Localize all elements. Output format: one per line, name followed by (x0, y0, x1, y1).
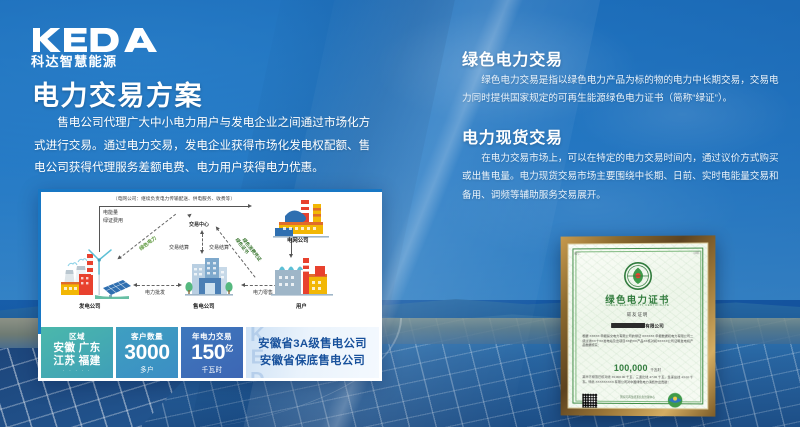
certificate-date-label: 日期： (693, 251, 701, 255)
certificate-amount-unit: 千瓦时 (650, 368, 661, 372)
section-body-green-power: 绿色电力交易是指以绿色电力产品为标的物的电力中长期交易，交易电力同时提供国家规定… (462, 72, 786, 109)
stats-bar: 区域 安徽 广东 江苏 福建 · · · · · 客户数量 3000 多户 年电… (41, 327, 379, 378)
stat-annual-trading-sup: 亿 (225, 344, 233, 353)
certificate-company-suffix: 有限公司 (645, 324, 663, 329)
qualification-badge: KEDA 安徽省3A级售电公司 安徽省保底售电公司 (246, 327, 379, 378)
grid-company-illustration (273, 198, 329, 240)
badge-line2: 安徽省保底售电公司 (260, 353, 365, 369)
retailer-company-illustration (185, 254, 233, 300)
info-card: （电网公司：继续负责电力传输配送、供电服务、收费等） 电能量 绿证费用 交易中心… (38, 189, 382, 381)
certificate-serial-label: 编号： (574, 251, 582, 255)
certificate-body-text: 根据 XXXXX 申报提交电力有限公司的绿证 XXXXXX 申报数据和电力有限公… (582, 334, 693, 348)
badge-line1: 安徽省3A级售电公司 (258, 336, 367, 352)
section-heading-spot-trading: 电力现货交易 (462, 124, 563, 148)
section-body-spot-trading: 在电力交易市场上，可以在特定的电力交易时间内，通过议价方式购买或出售电量。电力现… (462, 150, 786, 205)
diagram-caption-user: 用户 (296, 302, 307, 310)
poster-canvas: 科达智慧能源 电力交易方案 售电公司代理广大中小电力用户与发电企业之间通过市场化… (0, 0, 800, 427)
diagram-bracket-horizontal (99, 206, 249, 207)
stat-region-line1: 安徽 广东 (53, 342, 100, 355)
stat-region-title: 区域 (69, 331, 85, 342)
stat-customers: 客户数量 3000 多户 (116, 327, 178, 378)
diagram-label-energy: 电能量 (103, 209, 118, 216)
stat-annual-trading-number: 150 (191, 341, 225, 364)
stat-region: 区域 安徽 广东 江苏 福建 · · · · · (41, 327, 113, 378)
diagram-caption-retailer-company: 售电公司 (193, 302, 215, 310)
stat-customers-unit: 多户 (140, 364, 154, 374)
diagram-wholesale-arrow-right (178, 283, 182, 287)
diagram-retail-arrow-left (241, 283, 245, 287)
page-title: 电力交易方案 (32, 74, 203, 113)
certificate-company: 有限公司 (569, 323, 708, 330)
stat-annual-trading: 年电力交易 150亿 千瓦时 (181, 327, 243, 378)
diagram-label-cert-fee: 绿证费用 (103, 217, 123, 224)
diagram-arrow-to-grid (248, 204, 252, 208)
diagram-label-retail: 电力零售 (253, 289, 273, 296)
page-lead-paragraph: 售电公司代理广大中小电力用户与发电企业之间通过市场化方式进行交易。通过电力交易，… (34, 112, 374, 180)
diagram-label-green-power: 绿色电力 (138, 234, 158, 252)
section-heading-green-power: 绿色电力交易 (462, 46, 563, 70)
stat-region-line2: 江苏 福建 (53, 355, 100, 368)
diagram-caption-grid-company: 电网公司 (287, 236, 309, 244)
stat-annual-trading-value: 150亿 (191, 342, 233, 363)
diagram-grid-note: （电网公司：继续负责电力传输配送、供电服务、收费等） (113, 196, 235, 202)
certificate-amount-number: 100,000 (614, 363, 648, 373)
certificate-amount: 100,000 千瓦时 (569, 363, 708, 374)
stat-annual-trading-unit: 千瓦时 (202, 364, 223, 374)
certificate-seal-icon (623, 261, 653, 291)
green-certificate: 编号： 日期： 绿色电力证书 GREEN ELECTRICITY CERTIFI… (568, 242, 709, 409)
user-illustration (271, 254, 333, 300)
certificate-subtitle: GREEN ELECTRICITY CERTIFICATE (569, 303, 708, 307)
stat-customers-value: 3000 (124, 342, 170, 363)
keda-wordmark-icon (31, 27, 159, 53)
brand-logo: 科达智慧能源 (31, 27, 159, 68)
diagram-label-settlement-left: 交易结算 (169, 244, 189, 251)
certificate-company-redaction (611, 323, 645, 328)
brand-logo-subtitle: 科达智慧能源 (31, 55, 159, 68)
certificate-body-text-2: 其中不规范已核对线 49,000.00 千瓦，三通比线 47.00 千瓦，集束总… (582, 375, 693, 385)
diagram-settlement-dash (202, 234, 203, 250)
diagram-green-power-arrow-up (187, 212, 193, 218)
power-trading-diagram: （电网公司：继续负责电力传输配送、供电服务、收费等） 电能量 绿证费用 交易中心… (41, 192, 382, 325)
diagram-label-wholesale: 电力批发 (145, 289, 165, 296)
diagram-label-settlement-right: 交易结算 (209, 244, 229, 251)
diagram-wholesale-dash (137, 285, 179, 286)
certificate-kind: 碳友证明 (569, 312, 708, 318)
diagram-settlement-arrow-up (200, 230, 204, 234)
stat-region-dots: · · · · · (63, 368, 91, 374)
certificate-header-row: 编号： 日期： (574, 251, 701, 256)
green-certificate-frame: 编号： 日期： 绿色电力证书 GREEN ELECTRICITY CERTIFI… (561, 235, 716, 416)
generation-company-illustration (59, 244, 135, 299)
diagram-caption-generation-company: 发电公司 (79, 302, 101, 310)
diagram-label-trading-center: 交易中心 (189, 221, 209, 228)
